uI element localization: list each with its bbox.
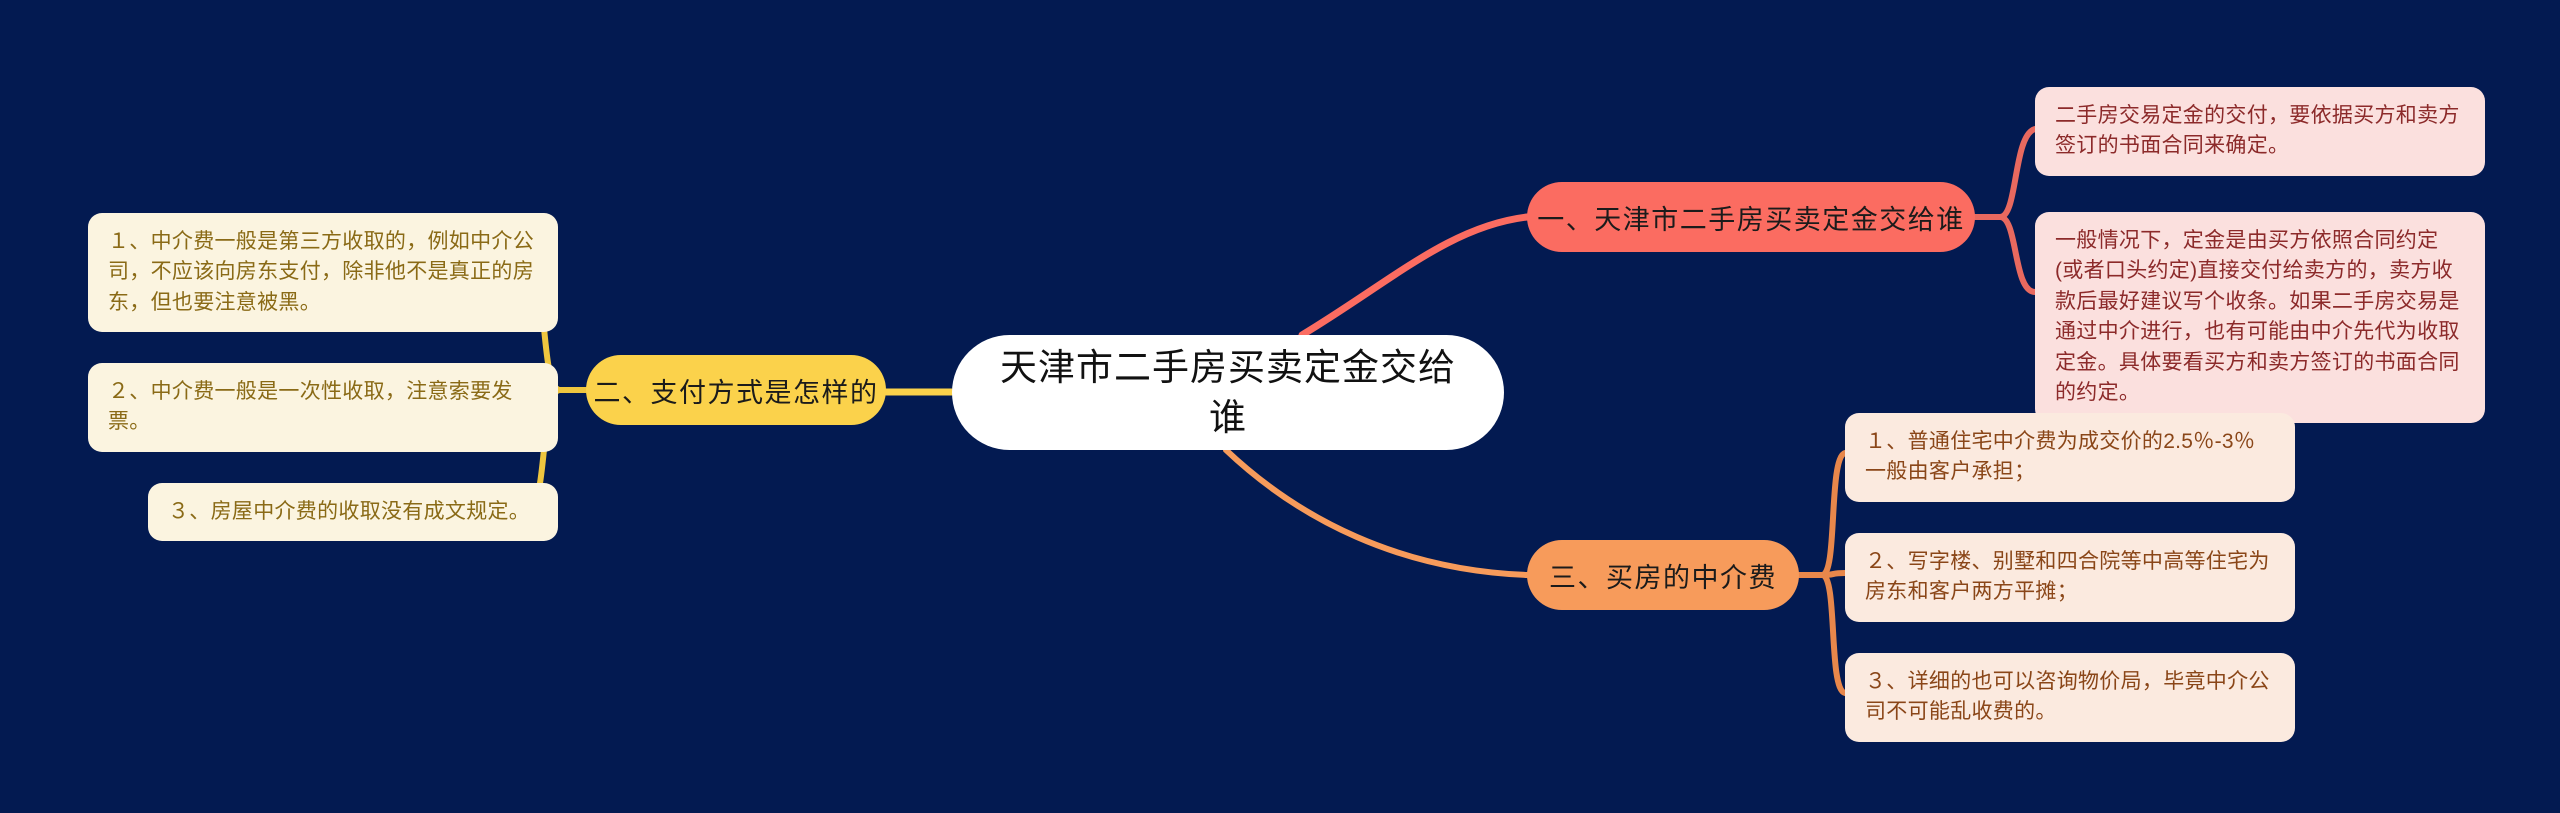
- leaf-card[interactable]: １、中介费一般是第三方收取的，例如中介公司，不应该向房东支付，除非他不是真正的房…: [88, 213, 558, 332]
- connector-root-to-branch-3: [1226, 450, 1527, 575]
- branch-node-1-label: 一、天津市二手房买卖定金交给谁: [1537, 198, 1965, 237]
- branch-node-2-label: 二、支付方式是怎样的: [594, 371, 879, 410]
- leaf-card[interactable]: 二手房交易定金的交付，要依据买方和卖方签订的书面合同来确定。: [2035, 87, 2485, 176]
- leaf-card[interactable]: １、普通住宅中介费为成交价的2.5％-3％一般由客户承担；: [1845, 413, 2295, 502]
- leaf-card[interactable]: ２、写字楼、别墅和四合院等中高等住宅为房东和客户两方平摊；: [1845, 533, 2295, 622]
- leaf-text: １、普通住宅中介费为成交价的2.5％-3％一般由客户承担；: [1865, 427, 2275, 488]
- mindmap-canvas: 天津市二手房买卖定金交给谁 一、天津市二手房买卖定金交给谁 二手房交易定金的交付…: [0, 0, 2560, 813]
- root-node[interactable]: 天津市二手房买卖定金交给谁: [952, 335, 1504, 450]
- connector-branch-3-leaf-1: [1822, 453, 1845, 575]
- leaf-card[interactable]: ３、详细的也可以咨询物价局，毕竟中介公司不可能乱收费的。: [1845, 653, 2295, 742]
- leaf-card[interactable]: ２、中介费一般是一次性收取，注意索要发票。: [88, 363, 558, 452]
- branch-node-2[interactable]: 二、支付方式是怎样的: [586, 355, 886, 425]
- leaf-text: 一般情况下，定金是由买方依照合同约定(或者口头约定)直接交付给卖方的，卖方收款后…: [2055, 226, 2465, 409]
- connector-branch-3-leaf-2: [1822, 573, 1845, 575]
- connector-root-to-branch-1: [1302, 217, 1527, 335]
- connector-branch-1-leaf-2: [2000, 217, 2035, 292]
- connector-branch-3-leaf-3: [1822, 575, 1845, 693]
- root-node-label: 天津市二手房买卖定金交给谁: [992, 343, 1464, 443]
- leaf-text: １、中介费一般是第三方收取的，例如中介公司，不应该向房东支付，除非他不是真正的房…: [108, 227, 538, 318]
- leaf-text: ３、详细的也可以咨询物价局，毕竟中介公司不可能乱收费的。: [1865, 667, 2275, 728]
- branch-node-3-label: 三、买房的中介费: [1549, 556, 1777, 595]
- connector-branch-1-leaf-1: [2000, 129, 2035, 217]
- leaf-card[interactable]: ３、房屋中介费的收取没有成文规定。: [148, 483, 558, 541]
- leaf-text: 二手房交易定金的交付，要依据买方和卖方签订的书面合同来确定。: [2055, 101, 2465, 162]
- branch-node-1[interactable]: 一、天津市二手房买卖定金交给谁: [1527, 182, 1975, 252]
- leaf-text: ２、中介费一般是一次性收取，注意索要发票。: [108, 377, 538, 438]
- leaf-card[interactable]: 一般情况下，定金是由买方依照合同约定(或者口头约定)直接交付给卖方的，卖方收款后…: [2035, 212, 2485, 423]
- branch-node-3[interactable]: 三、买房的中介费: [1527, 540, 1799, 610]
- leaf-text: ３、房屋中介费的收取没有成文规定。: [168, 497, 530, 527]
- leaf-text: ２、写字楼、别墅和四合院等中高等住宅为房东和客户两方平摊；: [1865, 547, 2275, 608]
